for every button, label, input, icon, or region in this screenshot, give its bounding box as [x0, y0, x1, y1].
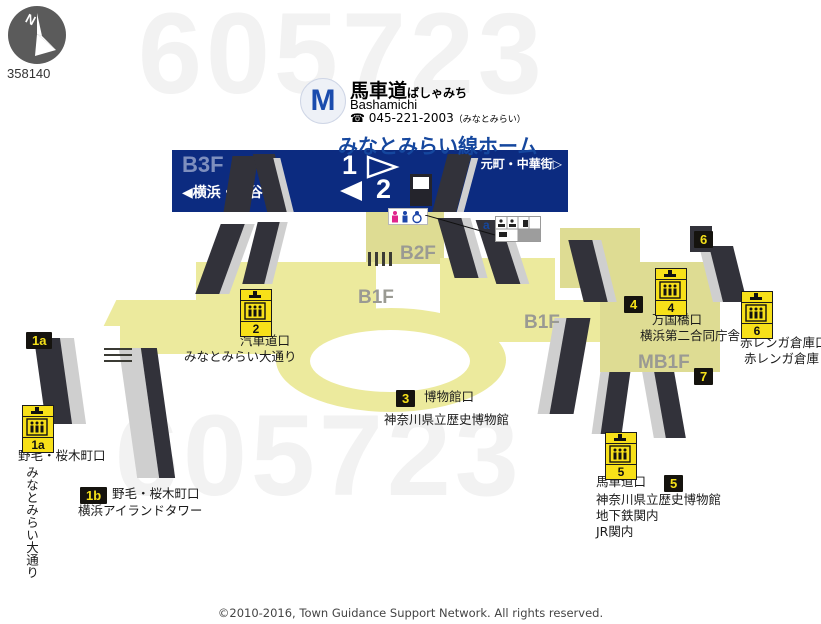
exit-badge-5-right[interactable]: 5 [664, 475, 683, 492]
exit-landmark-1a: みなとみらい大通り [24, 466, 39, 586]
exit-elevator-4-number: 4 [656, 300, 686, 315]
track-2-direction-arrow-icon [340, 181, 362, 201]
station-name-en: Bashamichi [350, 97, 417, 112]
exit-label-1b: 野毛・桜木町口 [112, 486, 200, 501]
exit-elevator-6[interactable]: 6 [741, 291, 773, 339]
gate-bars-left-icon [104, 346, 132, 362]
stair-glyph-icon [742, 292, 772, 303]
facility-legend-grid [495, 216, 541, 242]
exit-badge-3[interactable]: 3 [396, 390, 415, 407]
floor-label-b2f: B2F [400, 243, 436, 265]
logo-letter: M [301, 79, 345, 123]
stair-glyph-icon [241, 290, 271, 301]
station-phone: ☎ 045-221-2003（みなとみらい） [350, 111, 526, 125]
exit-elevator-1a[interactable]: 1a [22, 405, 54, 453]
exit-landmark-5-2: 地下鉄関内 [596, 508, 659, 523]
exit-landmark-6: 赤レンガ倉庫 [744, 351, 819, 366]
platform-heading: みなとみらい線ホーム [338, 130, 537, 159]
elevator-glyph-icon [742, 303, 772, 323]
copyright-notice: ©2010-2016, Town Guidance Support Networ… [0, 606, 821, 620]
exit-elevator-6-number: 6 [742, 323, 772, 338]
exit-elevator-1a-number: 1a [23, 437, 53, 452]
exit-badge-1a-top[interactable]: 1a [26, 332, 52, 349]
exit-landmark-5-3: JR関内 [596, 524, 633, 539]
exit-elevator-2[interactable]: 2 [240, 289, 272, 337]
station-phone-number: ☎ 045-221-2003 [350, 111, 454, 125]
station-phone-note: （みなとみらい） [454, 115, 526, 125]
exit-badge-6-top[interactable]: 6 [694, 231, 713, 248]
exit-elevator-5-number: 5 [606, 464, 636, 479]
minatomirai-line-logo-icon: M [300, 78, 346, 124]
elevator-glyph-icon [241, 301, 271, 321]
restroom-icon [388, 208, 428, 225]
map-id-label: 358140 [7, 66, 50, 81]
exit-landmark-1b: 横浜アイランドタワー [78, 503, 202, 518]
exit-landmark-4: 横浜第二合同庁舎 [640, 328, 740, 343]
floor-label-b1f-right: B1F [524, 312, 560, 334]
floor-label-mb1f: MB1F [638, 352, 690, 374]
exit-badge-1b[interactable]: 1b [80, 487, 107, 504]
exit-landmark-2: みなとみらい大通り [184, 349, 297, 364]
facility-legend-marker: a [483, 218, 490, 232]
floor-label-b3f: B3F [182, 152, 224, 178]
stair-glyph-icon [606, 433, 636, 444]
elevator-glyph-icon [606, 444, 636, 464]
elevator-glyph-icon [656, 280, 686, 300]
exit-elevator-2-number: 2 [241, 321, 271, 336]
exit-badge-7[interactable]: 7 [694, 368, 713, 385]
track-number-2: 2 [376, 174, 391, 205]
stair-glyph-icon [23, 406, 53, 417]
elevator-glyph-icon [23, 417, 53, 437]
stair-glyph-icon [656, 269, 686, 280]
b1f-concourse-left-diag [104, 300, 227, 326]
exit-landmark-3: 神奈川県立歴史博物館 [384, 412, 509, 427]
b1f-ring-hole [310, 330, 470, 392]
gate-bars-icon [368, 252, 394, 266]
platform-banner-b3f: B3F ◀横浜・渋谷 元町・中華街▷ 1 2 [172, 150, 568, 212]
exit-elevator-5[interactable]: 5 [605, 432, 637, 480]
escalator-sign-icon [410, 174, 432, 206]
compass-rose-icon: N [8, 6, 66, 64]
exit-elevator-4[interactable]: 4 [655, 268, 687, 316]
exit-badge-4-left[interactable]: 4 [624, 296, 643, 313]
exit-label-3: 博物館口 [424, 389, 474, 404]
exit-landmark-5-1: 神奈川県立歴史博物館 [596, 492, 721, 507]
floor-label-b1f-center: B1F [358, 287, 394, 309]
